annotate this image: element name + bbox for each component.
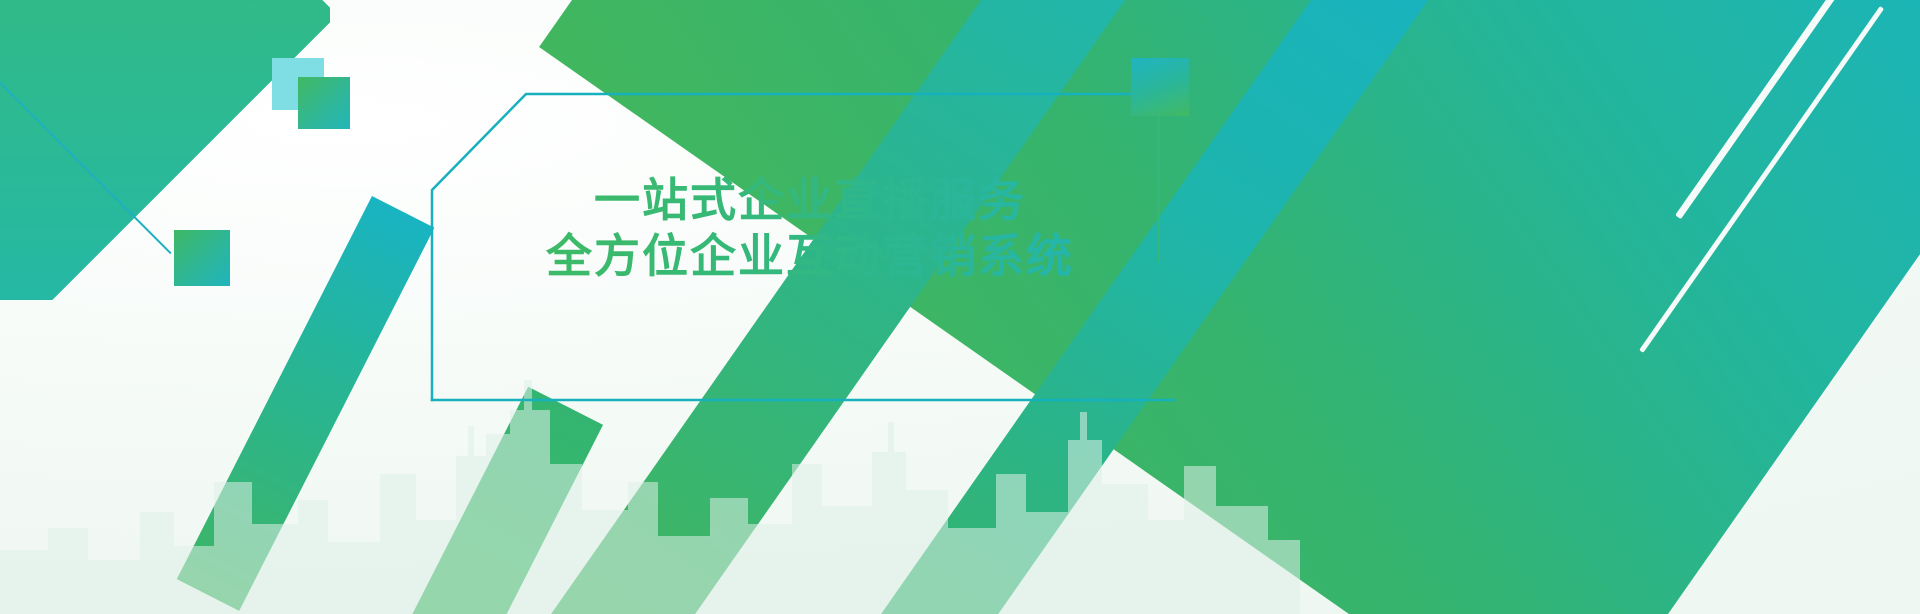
page-title: 一站式企业直播服务 全方位企业互动营销系统 xyxy=(520,172,1100,284)
frame-to-square-connector xyxy=(1158,92,1160,262)
headline-line-1: 一站式企业直播服务 xyxy=(520,172,1100,228)
gradient-square-left xyxy=(174,230,230,286)
promo-banner: 一站式企业直播服务 全方位企业互动营销系统 xyxy=(0,0,1920,614)
headline-line-2: 全方位企业互动营销系统 xyxy=(520,228,1100,284)
top-left-green-corner xyxy=(0,0,330,300)
gradient-square-frame xyxy=(1131,58,1189,116)
top-left-corner-clip xyxy=(0,0,330,300)
gradient-square-small xyxy=(298,77,350,129)
